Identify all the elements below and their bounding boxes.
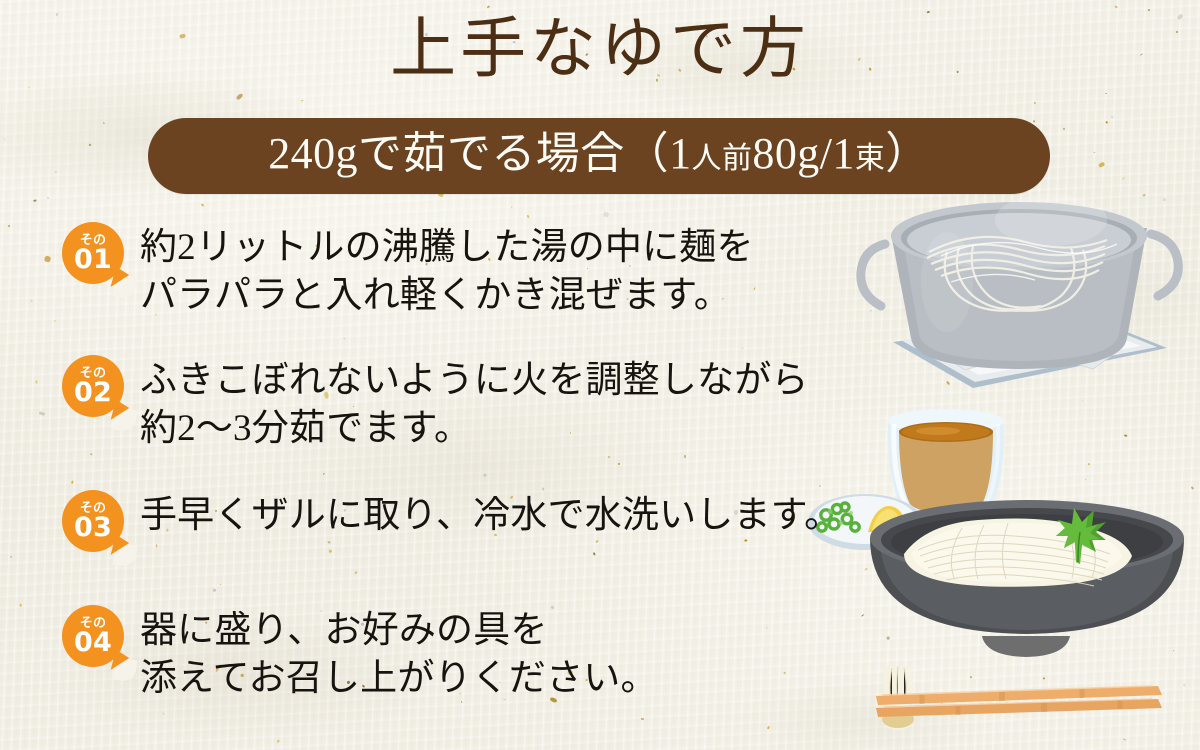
step-line-2: 添えてお召し上がりください。: [140, 655, 658, 703]
step-line-2: 約2～3分茹でます。: [140, 405, 809, 453]
recipe-poster: 上手なゆで方 240gで茹でる場合（1人前80g/1束） その01約2リットルの…: [0, 0, 1200, 750]
banner-weight: 80g/1: [752, 129, 854, 178]
step-text-02: ふきこぼれないように火を調整しながら約2～3分茹でます。: [140, 355, 809, 453]
banner-small-servings: 人前: [692, 142, 753, 175]
step-line-1: 手早くザルに取り、冷水で水洗いします。: [140, 492, 841, 540]
step-text-01: 約2リットルの沸騰した湯の中に麺をパラパラと入れ軽くかき混ぜます。: [140, 222, 754, 320]
step-badge-01: その01: [62, 222, 124, 284]
serving-size-banner-text: 240gで茹でる場合（1人前80g/1束）: [268, 132, 930, 176]
step-line-1: 約2リットルの沸騰した湯の中に麺を: [140, 224, 754, 272]
step-line-2: パラパラと入れ軽くかき混ぜます。: [140, 272, 754, 320]
step-badge-02: その02: [62, 355, 124, 417]
badge-number: 03: [74, 514, 112, 541]
step-02: その02ふきこぼれないように火を調整しながら約2～3分茹でます。: [62, 355, 809, 453]
banner-suffix: ）: [885, 129, 929, 178]
banner-prefix: 240gで茹でる場合（1: [268, 129, 691, 178]
serving-size-banner: 240gで茹でる場合（1人前80g/1束）: [148, 118, 1050, 194]
badge-number: 04: [74, 629, 112, 656]
badge-number: 02: [74, 379, 112, 406]
step-04: その04器に盛り、お好みの具を添えてお召し上がりください。: [62, 605, 658, 703]
step-line-1: 器に盛り、お好みの具を: [140, 607, 658, 655]
badge-number: 01: [74, 246, 112, 273]
step-line-1: ふきこぼれないように火を調整しながら: [140, 357, 809, 405]
step-03: その03手早くザルに取り、冷水で水洗いします。: [62, 490, 841, 552]
step-badge-04: その04: [62, 605, 124, 667]
step-badge-03: その03: [62, 490, 124, 552]
step-text-04: 器に盛り、お好みの具を添えてお召し上がりください。: [140, 605, 658, 703]
step-01: その01約2リットルの沸騰した湯の中に麺をパラパラと入れ軽くかき混ぜます。: [62, 222, 754, 320]
banner-small-bundle: 束: [855, 142, 885, 175]
step-text-03: 手早くザルに取り、冷水で水洗いします。: [140, 490, 841, 540]
page-title: 上手なゆで方: [0, 14, 1200, 87]
